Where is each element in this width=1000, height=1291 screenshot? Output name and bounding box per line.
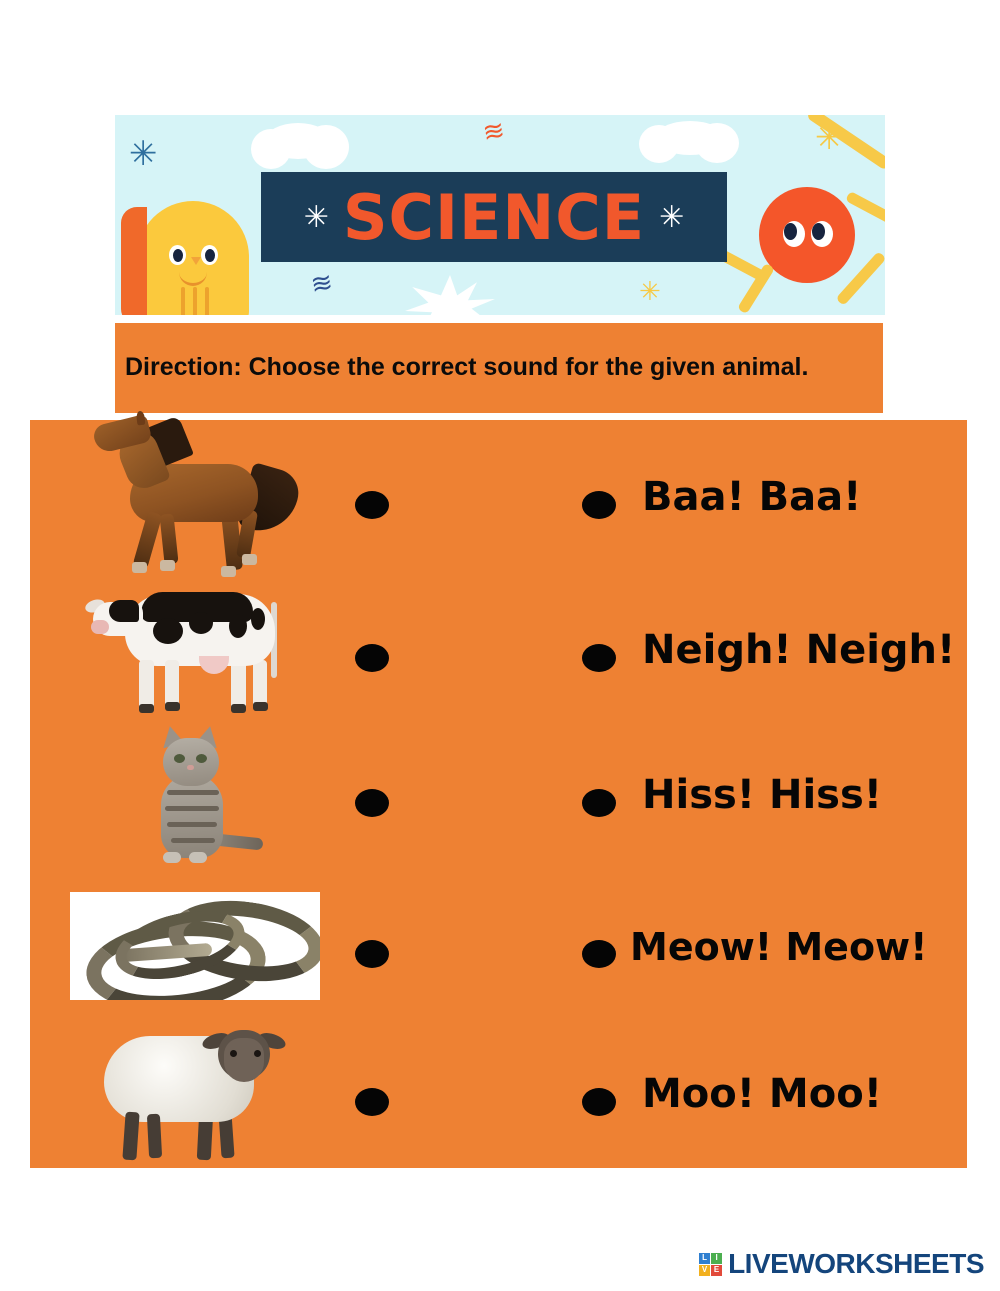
squiggle-icon: ≋ (309, 267, 336, 300)
cat-head (163, 738, 219, 786)
cat-illustration (133, 724, 258, 869)
cat-stripe (167, 822, 217, 827)
exercise-row: Neigh! Neigh! (30, 572, 967, 720)
animal-image-horse (70, 420, 320, 572)
animal-image-snake (70, 872, 320, 1020)
cat-paw (163, 852, 181, 863)
sparkle-icon: ✳ (129, 137, 158, 171)
match-dot-moo[interactable] (582, 1088, 616, 1116)
logo-tiles: L I V E (699, 1253, 722, 1276)
monster-limb (836, 251, 885, 306)
sheep-eye (230, 1050, 237, 1057)
match-dot-neigh[interactable] (582, 644, 616, 672)
match-dot-horse[interactable] (355, 491, 389, 519)
exercise-row: Moo! Moo! (30, 1020, 967, 1168)
page-title: SCIENCE (343, 181, 645, 254)
cat-stripe (171, 838, 215, 843)
monster-eye (201, 245, 218, 265)
match-dot-cat[interactable] (355, 789, 389, 817)
orange-monster-illustration (759, 187, 855, 283)
sparkle-icon: ✳ (639, 279, 661, 305)
yellow-monster-illustration (137, 201, 249, 315)
star-icon: ✳ (659, 200, 684, 235)
star-icon: ✳ (304, 200, 329, 235)
cow-leg (231, 660, 246, 710)
monster-arm (205, 287, 209, 315)
cow-leg (139, 660, 154, 710)
match-dot-sheep[interactable] (355, 1088, 389, 1116)
cow-leg (165, 660, 179, 708)
logo-wordmark: LIVEWORKSHEETS (728, 1248, 984, 1280)
logo-tile-v: V (699, 1265, 710, 1276)
horse-hoof (242, 554, 257, 565)
logo-tile-l: L (699, 1253, 710, 1264)
logo-tile-e: E (711, 1265, 722, 1276)
monster-arm (181, 287, 185, 315)
monster-eye (811, 221, 833, 247)
sheep-illustration (90, 1024, 300, 1164)
option-label-meow: Meow! Meow! (630, 925, 928, 969)
horse-illustration (88, 416, 303, 576)
cow-udder (199, 656, 229, 674)
cat-paw (189, 852, 207, 863)
cow-spot (189, 612, 213, 634)
monster-nose (191, 257, 201, 265)
match-dot-meow[interactable] (582, 940, 616, 968)
cloud-icon (655, 121, 725, 155)
cat-nose (187, 765, 194, 770)
cow-spot (153, 618, 183, 644)
animal-image-cat (70, 720, 320, 872)
sheep-eye (254, 1050, 261, 1057)
horse-hoof (160, 560, 175, 571)
cow-illustration (81, 576, 309, 716)
option-label-moo: Moo! Moo! (642, 1071, 882, 1117)
exercise-row: Baa! Baa! (30, 420, 967, 572)
match-dot-cow[interactable] (355, 644, 389, 672)
cow-spot (229, 614, 247, 638)
exercise-row: Hiss! Hiss! (30, 720, 967, 872)
sheep-leg (147, 1114, 162, 1159)
animal-image-cow (70, 572, 320, 720)
animal-image-sheep (70, 1020, 320, 1168)
cloud-icon (265, 123, 331, 159)
starburst-icon (405, 275, 495, 315)
cow-hoof (253, 702, 268, 711)
monster-eye (169, 245, 186, 265)
cat-stripe (165, 806, 219, 811)
cat-eye (174, 754, 185, 763)
match-dot-snake[interactable] (355, 940, 389, 968)
match-dot-hiss[interactable] (582, 789, 616, 817)
direction-text: Direction: Choose the correct sound for … (115, 350, 816, 386)
cat-eye (196, 754, 207, 763)
option-label-hiss: Hiss! Hiss! (642, 772, 882, 818)
cow-hoof (139, 704, 154, 713)
sheep-face (224, 1038, 264, 1082)
exercise-row: Meow! Meow! (30, 872, 967, 1020)
option-label-neigh: Neigh! Neigh! (642, 627, 955, 673)
horse-leg (132, 511, 162, 569)
liveworksheets-logo[interactable]: L I V E LIVEWORKSHEETS (699, 1248, 984, 1280)
cat-stripe (167, 790, 219, 795)
cow-head-patch (109, 600, 139, 622)
horse-ear (135, 411, 144, 426)
exercise-panel: Baa! Baa! (30, 420, 967, 1168)
monster-smile (179, 269, 207, 286)
snake-illustration (70, 892, 320, 1000)
direction-bar: Direction: Choose the correct sound for … (115, 323, 883, 413)
squiggle-icon: ≋ (481, 115, 508, 148)
cow-spot (251, 608, 265, 630)
cow-muzzle (91, 620, 109, 634)
option-label-baa: Baa! Baa! (642, 474, 861, 520)
match-dot-baa[interactable] (582, 491, 616, 519)
sheep-leg (122, 1112, 139, 1161)
cat-body (161, 774, 223, 858)
cow-leg (253, 660, 267, 708)
cow-hoof (231, 704, 246, 713)
logo-tile-i: I (711, 1253, 722, 1264)
monster-eye (783, 221, 805, 247)
science-banner: ✳ ✳ ✳ ≋ ≋ ✳ SCIENCE ✳ (115, 115, 885, 315)
monster-limb (845, 191, 885, 238)
science-title-plate: ✳ SCIENCE ✳ (261, 172, 727, 262)
cow-hoof (165, 702, 180, 711)
monster-spikes (121, 207, 147, 315)
monster-arm (193, 287, 197, 315)
